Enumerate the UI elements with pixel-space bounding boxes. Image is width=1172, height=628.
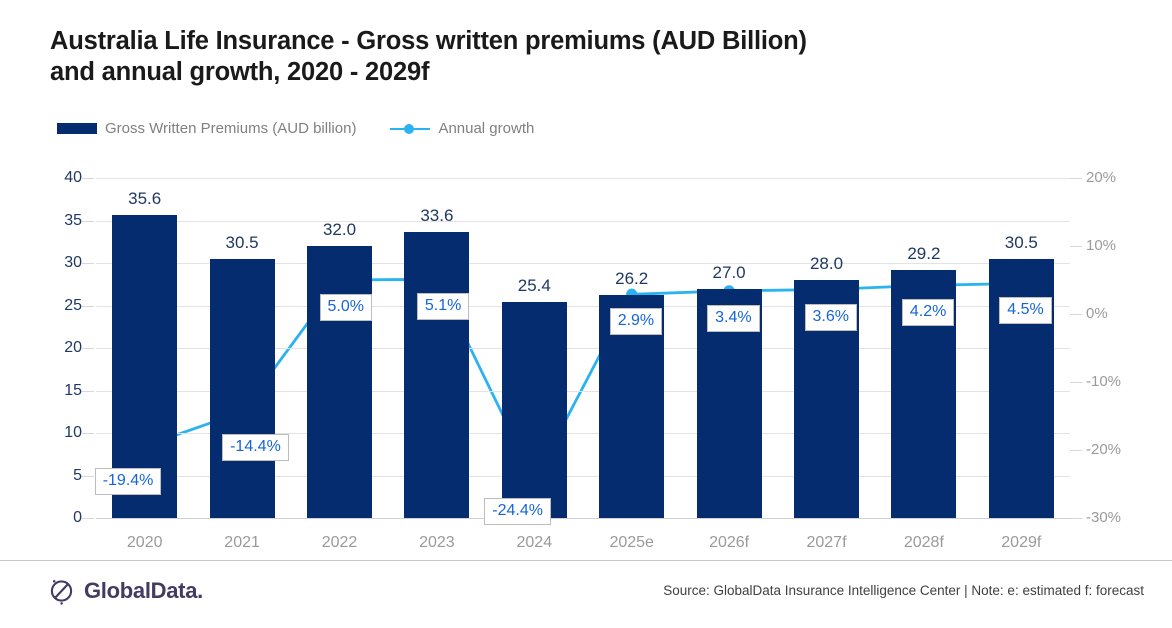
gridline [96, 221, 1070, 222]
chart-legend: Gross Written Premiums (AUD billion) Ann… [57, 120, 534, 137]
globaldata-logo: GlobalData. [48, 577, 203, 605]
y-axis-left-label: 30 [34, 254, 82, 272]
legend-item-gross-written-premiums: Gross Written Premiums (AUD billion) [57, 120, 356, 137]
page-title: Australia Life Insurance - Gross written… [50, 26, 1050, 88]
source-note: Source: GlobalData Insurance Intelligenc… [663, 583, 1144, 598]
x-axis-label-2029f: 2029f [971, 534, 1071, 552]
legend-line-swatch-icon [390, 123, 430, 135]
bar-2024[interactable] [502, 302, 567, 518]
growth-value-label-2020: -19.4% [95, 468, 162, 495]
x-axis-label-2027f: 2027f [777, 534, 877, 552]
bar-2021[interactable] [210, 259, 275, 518]
title-line-2: and annual growth, 2020 - 2029f [50, 57, 1050, 88]
growth-value-label-2025e: 2.9% [610, 308, 662, 335]
y-axis-left-tick-mark [82, 476, 94, 477]
y-axis-left-tick-mark [82, 178, 94, 179]
y-axis-left-label: 10 [34, 424, 82, 442]
footer-divider [0, 560, 1172, 561]
y-axis-right-tick-mark [1070, 246, 1082, 247]
x-axis-label-2022: 2022 [290, 534, 390, 552]
y-axis-right-label: -30% [1086, 509, 1156, 526]
growth-value-label-2021: -14.4% [222, 434, 289, 461]
y-axis-left-label: 15 [34, 382, 82, 400]
x-axis-label-2028f: 2028f [874, 534, 974, 552]
y-axis-left-tick-mark [82, 306, 94, 307]
y-axis-right-label: -10% [1086, 373, 1156, 390]
bar-value-label-2025e: 26.2 [587, 269, 677, 289]
growth-value-label-2026f: 3.4% [707, 305, 759, 332]
growth-value-label-2023: 5.1% [417, 293, 469, 320]
y-axis-right-label: 0% [1086, 305, 1156, 322]
y-axis-left-label: 35 [34, 212, 82, 230]
plot-area: 403530252015105020%10%0%-10%-20%-30%35.6… [96, 178, 1070, 518]
x-axis-label-2024: 2024 [484, 534, 584, 552]
bar-value-label-2022: 32.0 [295, 220, 385, 240]
globaldata-mark-icon [48, 577, 75, 605]
gridline [96, 178, 1070, 179]
y-axis-right-label: 20% [1086, 169, 1156, 186]
legend-item-annual-growth: Annual growth [390, 120, 534, 137]
x-axis-label-2021: 2021 [192, 534, 292, 552]
bar-value-label-2023: 33.6 [392, 206, 482, 226]
y-axis-right-tick-mark [1070, 314, 1082, 315]
y-axis-right-tick-mark [1070, 450, 1082, 451]
y-axis-left-label: 40 [34, 169, 82, 187]
bar-value-label-2029f: 30.5 [976, 233, 1066, 253]
x-axis-label-2023: 2023 [387, 534, 487, 552]
y-axis-left-tick-mark [82, 391, 94, 392]
y-axis-right-tick-mark [1070, 178, 1082, 179]
chart-container: Australia Life Insurance - Gross written… [0, 0, 1172, 628]
growth-value-label-2029f: 4.5% [999, 297, 1051, 324]
bar-value-label-2020: 35.6 [100, 189, 190, 209]
bar-value-label-2028f: 29.2 [879, 244, 969, 264]
bar-2023[interactable] [404, 232, 469, 518]
y-axis-left-tick-mark [82, 433, 94, 434]
bar-value-label-2027f: 28.0 [782, 254, 872, 274]
y-axis-left-label: 25 [34, 297, 82, 315]
y-axis-left-label: 5 [34, 467, 82, 485]
y-axis-left-tick-mark [82, 518, 94, 519]
y-axis-right-label: -20% [1086, 441, 1156, 458]
x-axis-baseline [96, 518, 1070, 519]
bar-value-label-2026f: 27.0 [684, 263, 774, 283]
x-axis-label-2020: 2020 [95, 534, 195, 552]
bar-value-label-2024: 25.4 [489, 276, 579, 296]
y-axis-left-tick-mark [82, 221, 94, 222]
y-axis-left-label: 0 [34, 509, 82, 527]
title-line-1: Australia Life Insurance - Gross written… [50, 26, 1050, 57]
legend-bar-swatch-icon [57, 123, 97, 134]
growth-value-label-2028f: 4.2% [902, 299, 954, 326]
growth-value-label-2027f: 3.6% [805, 304, 857, 331]
y-axis-right-tick-mark [1070, 382, 1082, 383]
legend-label-growth: Annual growth [438, 120, 534, 137]
globaldata-logo-text: GlobalData. [84, 578, 203, 604]
y-axis-left-tick-mark [82, 348, 94, 349]
growth-value-label-2024: -24.4% [484, 498, 551, 525]
y-axis-left-label: 20 [34, 339, 82, 357]
y-axis-right-tick-mark [1070, 518, 1082, 519]
y-axis-right-label: 10% [1086, 237, 1156, 254]
growth-value-label-2022: 5.0% [320, 294, 372, 321]
bar-2022[interactable] [307, 246, 372, 518]
bar-value-label-2021: 30.5 [197, 233, 287, 253]
legend-label-premiums: Gross Written Premiums (AUD billion) [105, 120, 356, 137]
x-axis-label-2026f: 2026f [679, 534, 779, 552]
x-axis-label-2025e: 2025e [582, 534, 682, 552]
y-axis-left-tick-mark [82, 263, 94, 264]
